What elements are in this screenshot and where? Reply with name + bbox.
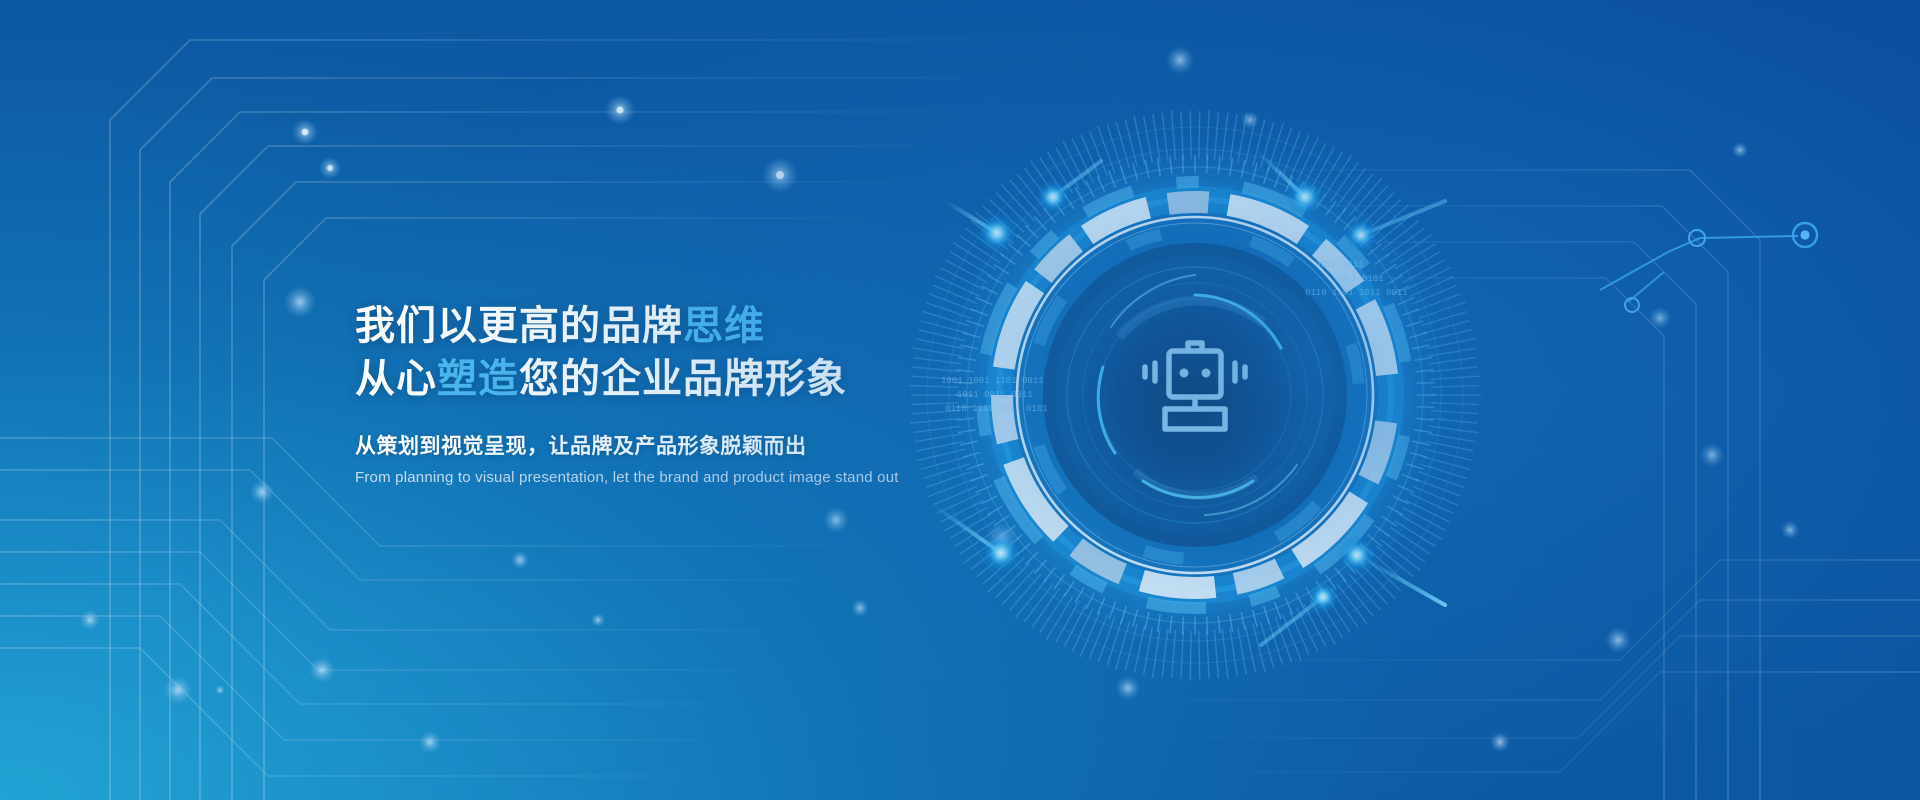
headline-line2-accent: 塑造: [437, 357, 519, 401]
circuit-traces-bottom-left: [0, 438, 830, 776]
headline-line-1: 我们以更高的品牌思维: [355, 300, 1115, 353]
headline-line2-white-b: 您的企业品牌形象: [519, 357, 847, 401]
headline-line1-accent: 思维: [683, 304, 765, 348]
headline-line1-white: 我们以更高的品牌: [355, 304, 683, 348]
hero-copy: 我们以更高的品牌思维 从心塑造您的企业品牌形象 从策划到视觉呈现，让品牌及产品形…: [355, 300, 1115, 486]
headline-line2-white-a: 从心: [355, 357, 437, 401]
svg-text:0110 1101 1011 0011: 0110 1101 1011 0011: [1305, 288, 1408, 298]
hero-banner: 0010 0011 1011 0101 0110 1101 1011 0011 …: [0, 0, 1920, 800]
svg-text:0010 0011: 0010 0011: [1315, 260, 1364, 270]
connector-line: [1600, 223, 1817, 312]
subtitle-chinese: 从策划到视觉呈现，让品牌及产品形象脱颖而出: [355, 430, 1115, 460]
svg-text:1011 0101: 1011 0101: [1335, 274, 1384, 284]
subtitle-english: From planning to visual presentation, le…: [355, 469, 1115, 486]
headline-line-2: 从心塑造您的企业品牌形象: [355, 353, 1115, 406]
